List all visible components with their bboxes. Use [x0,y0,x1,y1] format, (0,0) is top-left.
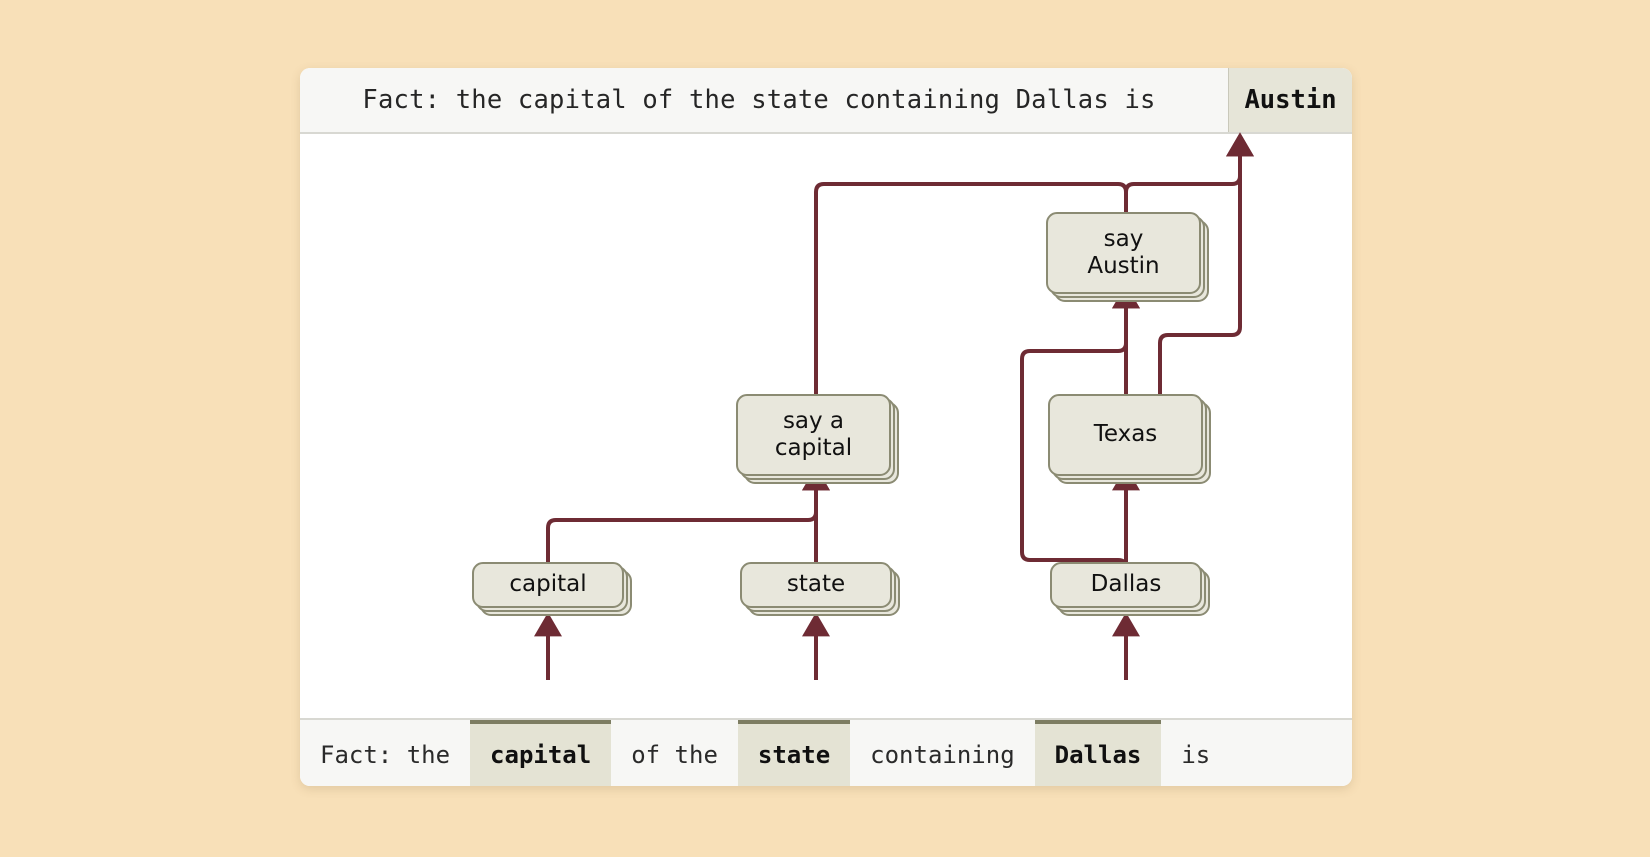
node-state[interactable]: state [740,562,900,616]
token-bar: Fact: the capital of the state containin… [300,718,1352,786]
trace-card: Fact: the capital of the state containin… [300,68,1352,786]
node-say-austin[interactable]: say Austin [1046,212,1209,302]
edge-sayaustin-to-answer [1126,146,1240,212]
token-of-the[interactable]: of the [611,720,738,786]
node-capital[interactable]: capital [472,562,632,616]
token-dallas[interactable]: Dallas [1035,720,1162,786]
node-stack-layer-1 [1050,562,1202,608]
token-state[interactable]: state [738,720,850,786]
node-say-a-capital[interactable]: say a capital [736,394,899,484]
node-stack-layer-1 [1048,394,1203,476]
token-is[interactable]: is [1161,720,1230,786]
diagram-canvas: Fact: the capital of the state containin… [0,0,1650,857]
node-stack-layer-1 [1046,212,1201,294]
node-stack-layer-1 [736,394,891,476]
edge-capital-to-sayacapital [548,480,816,562]
token-containing[interactable]: containing [850,720,1035,786]
node-dallas[interactable]: Dallas [1050,562,1210,616]
node-texas[interactable]: Texas [1048,394,1211,484]
node-stack-layer-1 [740,562,892,608]
token-capital[interactable]: capital [470,720,611,786]
token-fact-the[interactable]: Fact: the [300,720,470,786]
node-stack-layer-1 [472,562,624,608]
